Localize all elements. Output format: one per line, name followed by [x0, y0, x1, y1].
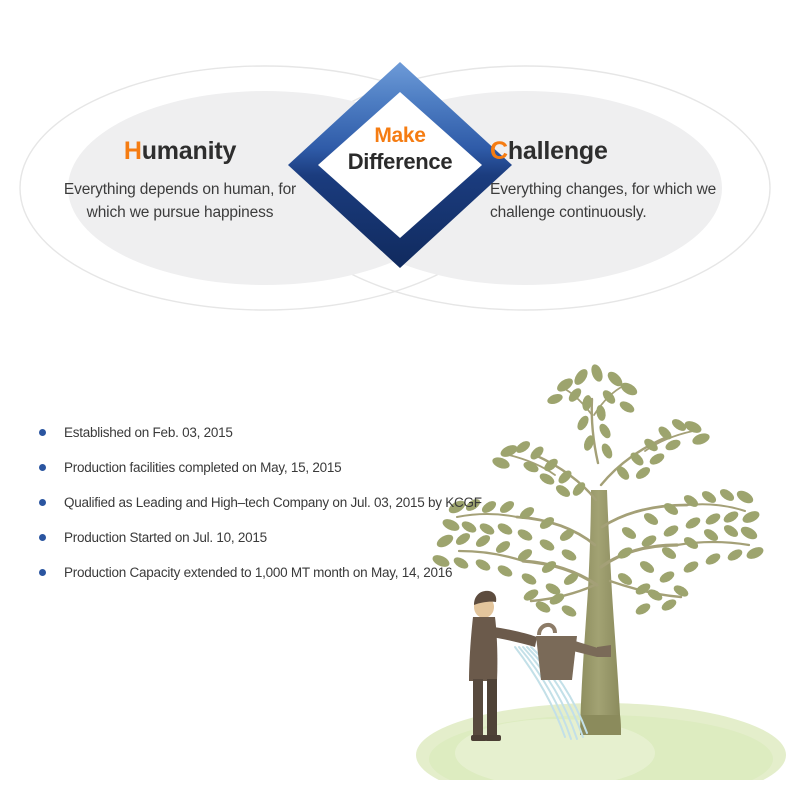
- milestone-item: Production Capacity extended to 1,000 MT…: [36, 555, 506, 590]
- center-diamond-line-top: Make: [288, 124, 512, 149]
- value-heading-rest: hallenge: [508, 137, 608, 165]
- milestone-list: Established on Feb. 03, 2015 Production …: [36, 415, 506, 590]
- center-diamond: Make Difference: [288, 62, 512, 268]
- milestone-text: Production facilities completed on May, …: [64, 460, 341, 475]
- value-heading-rest: umanity: [142, 137, 236, 165]
- bullet-icon: [39, 464, 46, 471]
- milestone-item: Production Started on Jul. 10, 2015: [36, 520, 506, 555]
- tree-trunk: [580, 490, 621, 735]
- milestone-text: Established on Feb. 03, 2015: [64, 425, 233, 440]
- milestone-text: Production Started on Jul. 10, 2015: [64, 530, 267, 545]
- milestone-text: Production Capacity extended to 1,000 MT…: [64, 565, 452, 580]
- value-heading-humanity: Humanity: [55, 138, 305, 166]
- center-diamond-line-bottom: Difference: [288, 149, 512, 175]
- milestone-item: Production facilities completed on May, …: [36, 450, 506, 485]
- value-block-challenge: Challenge Everything changes, for which …: [490, 138, 735, 225]
- bullet-icon: [39, 499, 46, 506]
- value-heading-challenge: Challenge: [490, 138, 735, 166]
- center-diamond-label: Make Difference: [288, 124, 512, 175]
- milestone-text: Qualified as Leading and High–tech Compa…: [64, 495, 482, 510]
- value-description-humanity: Everything depends on human, for which w…: [55, 178, 305, 225]
- value-heading-initial: H: [124, 137, 142, 165]
- bullet-icon: [39, 429, 46, 436]
- bullet-icon: [39, 534, 46, 541]
- value-block-humanity: Humanity Everything depends on human, fo…: [55, 138, 305, 225]
- vision-diagram: Humanity Everything depends on human, fo…: [0, 0, 790, 345]
- milestone-item: Qualified as Leading and High–tech Compa…: [36, 485, 506, 520]
- milestone-item: Established on Feb. 03, 2015: [36, 415, 506, 450]
- value-description-challenge: Everything changes, for which we challen…: [490, 178, 735, 225]
- bullet-icon: [39, 569, 46, 576]
